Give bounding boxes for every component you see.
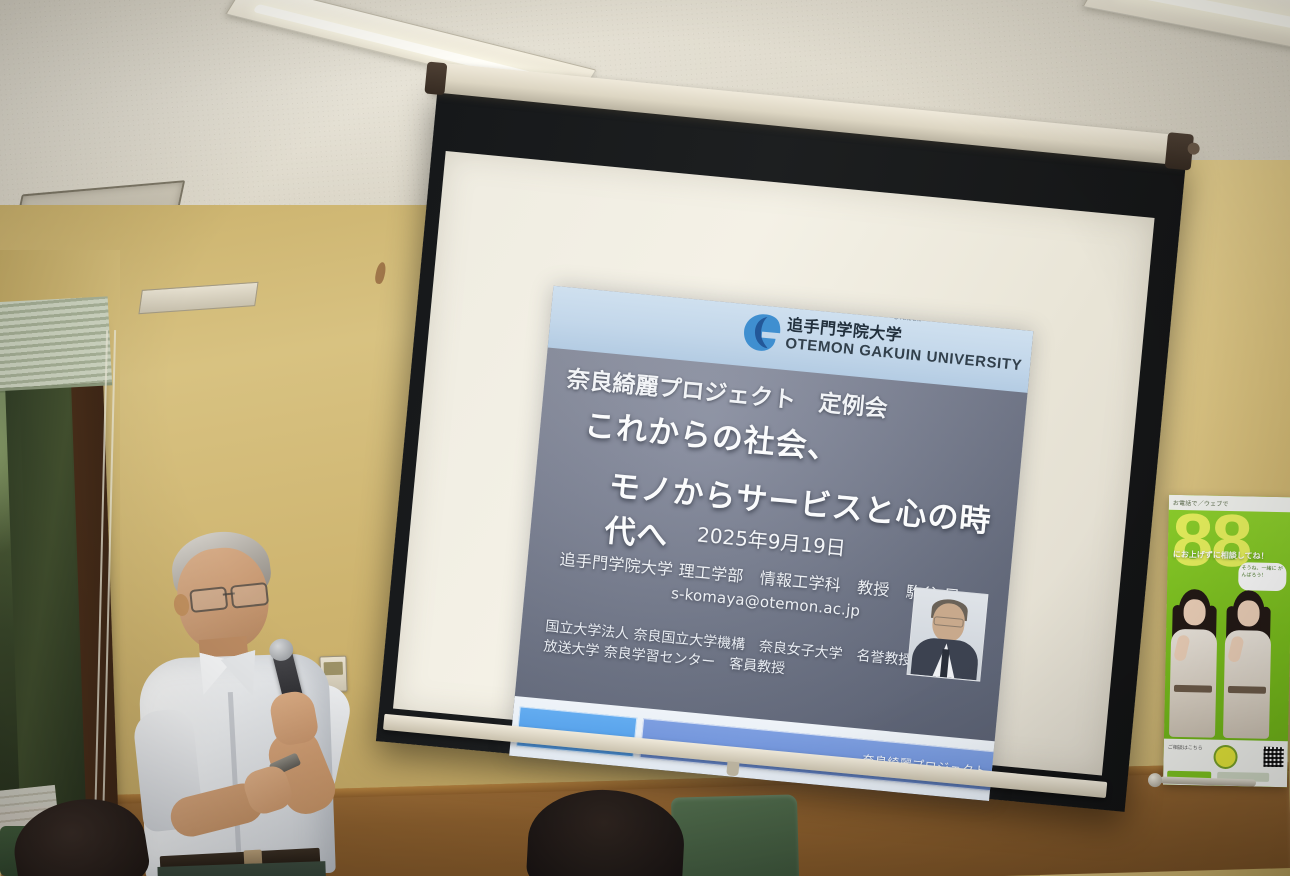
- screen-surface: OTEMON 追手門学院大学 OTEMON GAKUIN UNIVERSITY …: [393, 151, 1155, 776]
- poster-tagline: にお上げずに相談してね！: [1173, 549, 1269, 562]
- presentation-slide: OTEMON 追手門学院大学 OTEMON GAKUIN UNIVERSITY …: [509, 286, 1033, 801]
- poster-model-left: [1168, 589, 1219, 740]
- university-logo: 追手門学院大学 OTEMON GAKUIN UNIVERSITY: [740, 308, 1025, 378]
- presenter-portrait-photo: [906, 587, 988, 682]
- speaker-person-icon: [120, 520, 370, 876]
- poster-mascot-logo-icon: [1213, 745, 1237, 769]
- green-chair-icon[interactable]: [671, 794, 799, 876]
- wall-poster-icon: お電話で／ウェブで 88 にお上げずに相談してね！ そうね、一緒に がんばろう！…: [1163, 495, 1290, 788]
- poster-model-right: [1222, 590, 1273, 741]
- otemon-gakuin-university-logo-icon: [740, 308, 784, 356]
- projection-screen: OTEMON 追手門学院大学 OTEMON GAKUIN UNIVERSITY …: [376, 84, 1187, 812]
- window-with-blinds-icon[interactable]: [0, 296, 112, 392]
- poster-speech-bubble: そうね、一緒に がんばろう！: [1238, 562, 1287, 591]
- screen-pull-nub[interactable]: [726, 761, 739, 776]
- qr-code-icon[interactable]: [1263, 747, 1283, 767]
- lecture-room-photo: OTEMON 追手門学院大学 OTEMON GAKUIN UNIVERSITY …: [0, 0, 1290, 876]
- poster-footer-note: ご相談はこちら: [1168, 745, 1203, 753]
